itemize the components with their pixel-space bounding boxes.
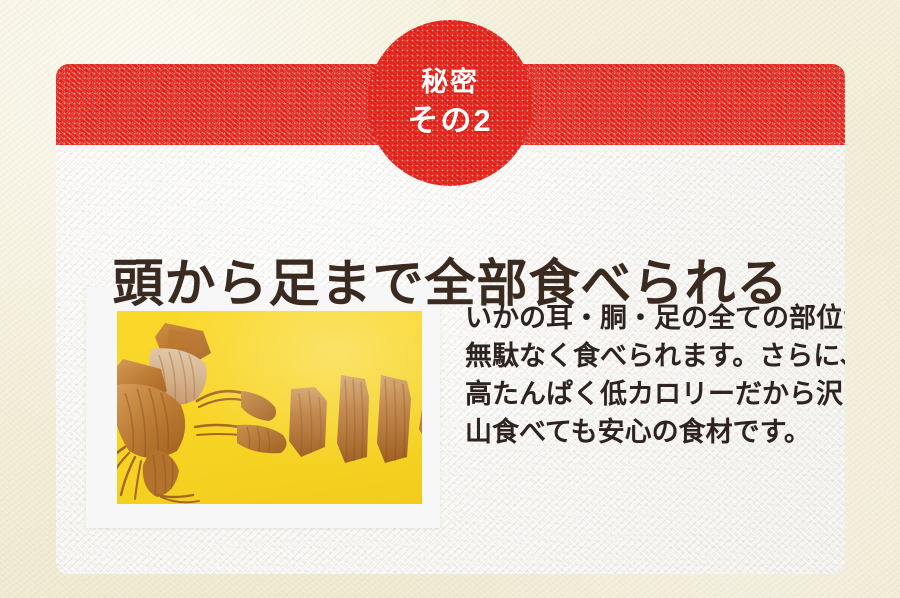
dried-squid-slice-3: [373, 373, 415, 467]
body-copy-line: 高たんぱく低カロリーだから沢: [465, 375, 815, 413]
secret-badge-title: 秘密: [421, 66, 479, 100]
product-photo: [86, 287, 440, 528]
page-title: 頭から足まで全部食べられる: [56, 256, 845, 312]
secret-badge: 秘密 その2: [367, 20, 533, 186]
dried-squid-slice-2: [333, 373, 373, 467]
cutting-board: [117, 311, 422, 504]
secret-badge-number: その2: [407, 102, 492, 141]
body-copy-line: 無駄なく食べられます。さらに、: [465, 337, 815, 375]
dried-squid-tail-piece: [417, 383, 422, 461]
secret-badge-text: 秘密 その2: [367, 20, 533, 186]
dried-squid-slice-1: [285, 385, 333, 461]
body-copy: いかの耳・胴・足の全ての部位が 無駄なく食べられます。さらに、 高たんぱく低カロ…: [465, 299, 815, 451]
page-background: 頭から足まで全部食べられる: [0, 0, 900, 598]
body-copy-line: 山食べても安心の食材です。: [465, 413, 815, 451]
